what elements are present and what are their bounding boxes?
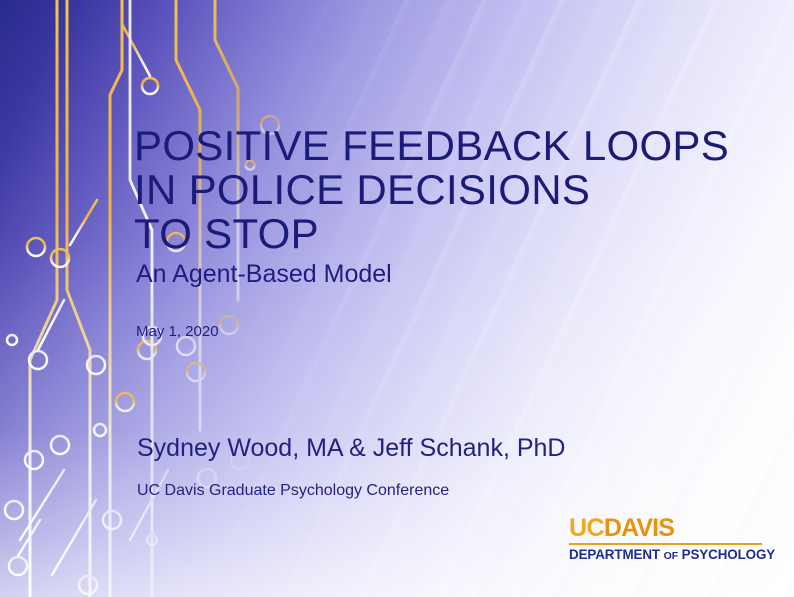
slide-affiliation: UC Davis Graduate Psychology Conference [137, 481, 449, 501]
uc-davis-logo: UCDAVIS DEPARTMENT OF PSYCHOLOGY [569, 516, 765, 564]
logo-divider-rule [569, 543, 762, 545]
slide-date: May 1, 2020 [136, 322, 219, 342]
uc-davis-wordmark: UCDAVIS [569, 516, 765, 541]
slide-subtitle: An Agent-Based Model [136, 259, 392, 289]
presentation-slide: POSITIVE FEEDBACK LOOPS IN POLICE DECISI… [0, 0, 794, 597]
logo-department-text: DEPARTMENT [569, 547, 660, 562]
logo-department-line: DEPARTMENT OF PSYCHOLOGY [569, 547, 765, 564]
logo-davis-text: DAVIS [604, 514, 674, 542]
slide-author: Sydney Wood, MA & Jeff Schank, PhD [137, 433, 565, 463]
logo-of-text: OF [664, 550, 678, 562]
logo-uc-text: UC [569, 514, 604, 542]
slide-title: POSITIVE FEEDBACK LOOPS IN POLICE DECISI… [134, 124, 734, 256]
logo-subject-text: PSYCHOLOGY [682, 547, 776, 562]
slide-content: POSITIVE FEEDBACK LOOPS IN POLICE DECISI… [134, 0, 774, 597]
